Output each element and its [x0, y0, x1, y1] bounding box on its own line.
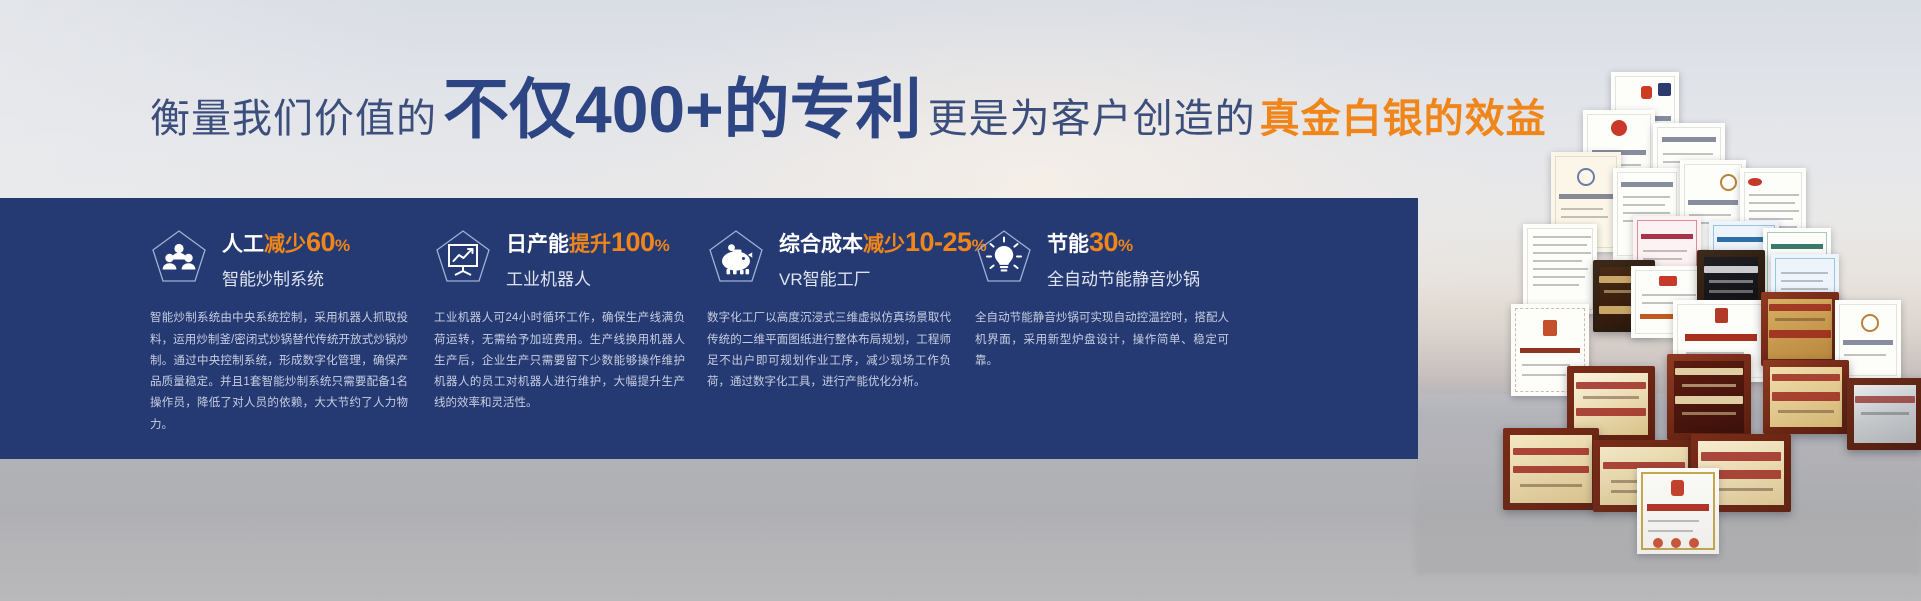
feature-subtitle: 全自动节能静音炒锅	[1047, 265, 1200, 290]
feature-body-text: 工业机器人可24小时循环工作，确保生产线满负荷运转，无需给予加班费用。生产线换用…	[434, 308, 689, 414]
feature-body-text: 数字化工厂以高度沉浸式三维虚拟仿真场景取代传统的二维平面图纸进行整体布局规划，工…	[707, 308, 955, 393]
feature-subtitle: 智能炒制系统	[222, 265, 350, 290]
stat-accent: 减少	[863, 233, 905, 256]
chart-board-icon	[434, 228, 492, 286]
feature-titles: 日产能提升100% 工业机器人	[506, 226, 670, 290]
features-row: 人工减少60% 智能炒制系统 智能炒制系统由中央系统控制，采用机器人抓取投料，运…	[0, 198, 1418, 459]
award-plaque	[1763, 360, 1849, 434]
piggy-bank-icon	[707, 228, 765, 286]
stat-number: 60	[306, 227, 335, 257]
stat-accent: 提升	[569, 233, 611, 256]
feature-titles: 节能30% 全自动节能静音炒锅	[1047, 226, 1200, 290]
feature-stat: 节能30%	[1047, 228, 1200, 256]
feature-stat: 日产能提升100%	[506, 228, 670, 256]
certificate	[1637, 468, 1719, 554]
feature-card-labor: 人工减少60% 智能炒制系统 智能炒制系统由中央系统控制，采用机器人抓取投料，运…	[150, 198, 412, 459]
feature-titles: 人工减少60% 智能炒制系统	[222, 226, 350, 290]
stat-unit: %	[655, 236, 670, 255]
feature-card-capacity: 日产能提升100% 工业机器人 工业机器人可24小时循环工作，确保生产线满负荷运…	[434, 198, 689, 459]
feature-card-energy: 节能30% 全自动节能静音炒锅 全自动节能静音炒锅可实现自动控温控时，搭配人机界…	[975, 198, 1233, 459]
feature-header: 综合成本减少10-25% VR智能工厂	[707, 198, 955, 290]
banner-stage: 衡量我们价值的 不仅400+的专利 更是为客户创造的 真金白银的效益	[0, 0, 1921, 601]
certificate-award-pyramid	[1415, 38, 1921, 558]
feature-header: 人工减少60% 智能炒制系统	[150, 198, 412, 290]
stat-unit: %	[335, 236, 350, 255]
headline: 衡量我们价值的 不仅400+的专利 更是为客户创造的 真金白银的效益	[150, 76, 1547, 144]
feature-body-text: 全自动节能静音炒锅可实现自动控温控时，搭配人机界面，采用新型炉盘设计，操作简单、…	[975, 308, 1233, 372]
stat-accent: 减少	[264, 233, 306, 256]
lightbulb-icon	[975, 228, 1033, 286]
award-plaque	[1847, 378, 1921, 450]
feature-stat: 综合成本减少10-25%	[779, 228, 987, 256]
people-group-icon	[150, 228, 208, 286]
stat-number: 100	[611, 227, 655, 257]
feature-subtitle: VR智能工厂	[779, 265, 987, 290]
certificate	[1523, 224, 1597, 314]
feature-header: 日产能提升100% 工业机器人	[434, 198, 689, 290]
award-plaque	[1761, 292, 1839, 366]
features-panel: 人工减少60% 智能炒制系统 智能炒制系统由中央系统控制，采用机器人抓取投料，运…	[0, 198, 1418, 459]
stat-label: 日产能	[506, 233, 569, 256]
feature-subtitle: 工业机器人	[506, 265, 670, 290]
feature-header: 节能30% 全自动节能静音炒锅	[975, 198, 1233, 290]
headline-middle: 更是为客户创造的	[928, 86, 1256, 144]
feature-titles: 综合成本减少10-25% VR智能工厂	[779, 226, 987, 290]
feature-card-cost: 综合成本减少10-25% VR智能工厂 数字化工厂以高度沉浸式三维虚拟仿真场景取…	[707, 198, 955, 459]
stat-label: 节能	[1047, 233, 1089, 256]
stat-number: 30	[1089, 227, 1118, 257]
headline-lead: 衡量我们价值的	[150, 86, 437, 144]
stat-number: 10-25	[905, 227, 972, 257]
award-plaque	[1667, 354, 1751, 440]
feature-stat: 人工减少60%	[222, 228, 350, 256]
stat-label: 人工	[222, 233, 264, 256]
stat-label: 综合成本	[779, 233, 863, 256]
headline-emphasis: 不仅400+的专利	[443, 76, 922, 142]
feature-body-text: 智能炒制系统由中央系统控制，采用机器人抓取投料，运用炒制釜/密闭式炒锅替代传统开…	[150, 308, 412, 436]
stat-unit: %	[1118, 236, 1133, 255]
award-plaque	[1503, 428, 1599, 510]
